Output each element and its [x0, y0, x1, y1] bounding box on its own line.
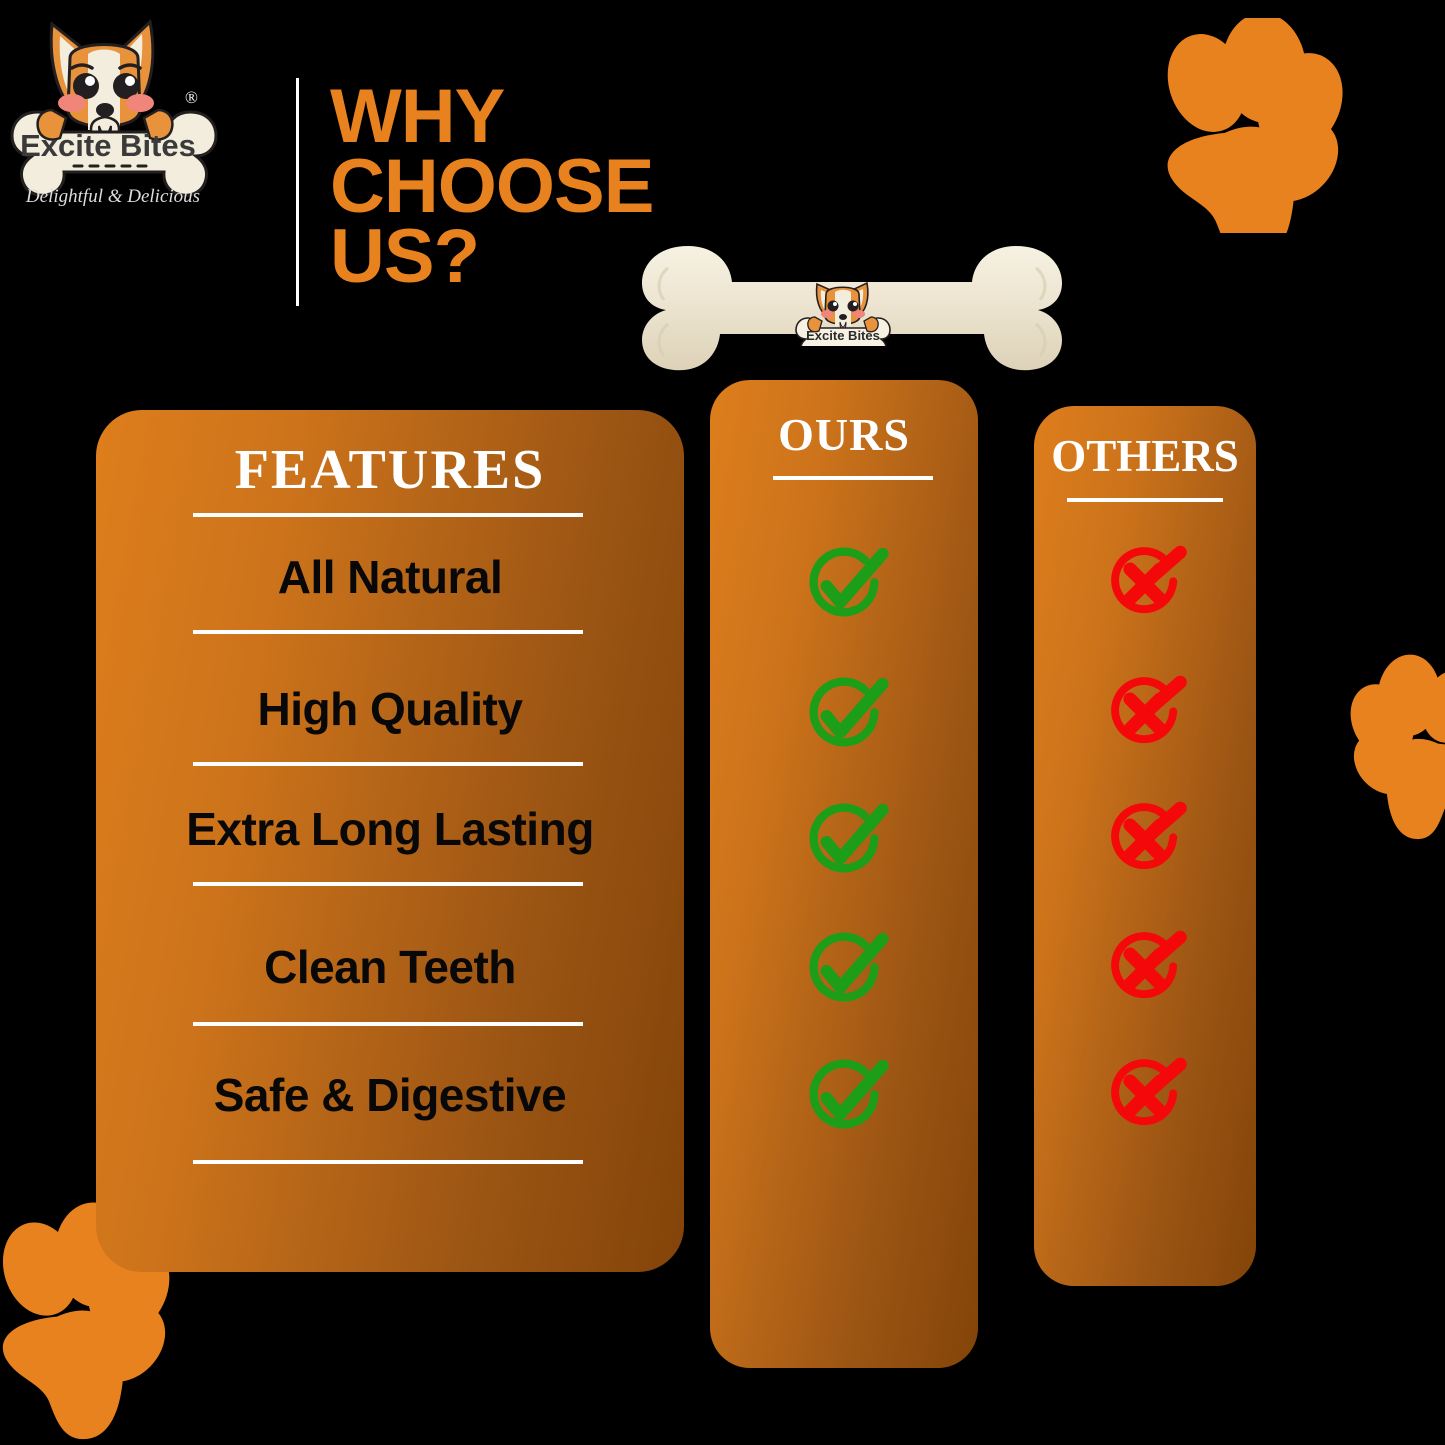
green-check-circle-icon [798, 1052, 890, 1144]
feature-divider-3 [193, 882, 583, 886]
infographic-canvas: Excite Bites Delightful & Delicious ® WH… [0, 0, 1445, 1445]
green-check-circle-icon [798, 925, 890, 1017]
others-cell-2 [1034, 670, 1256, 758]
others-cell-4 [1034, 925, 1256, 1013]
others-cell-5 [1034, 1052, 1256, 1140]
red-cross-circle-icon [1101, 540, 1189, 628]
brand-logo: Excite Bites Delightful & Delicious ® [8, 6, 220, 216]
logo-wordmark: Excite Bites [20, 128, 196, 163]
ours-header-rule [773, 476, 933, 480]
page-title-line-1: WHY [330, 82, 750, 152]
registered-mark-icon: ® [185, 88, 198, 107]
paw-print-icon [1262, 618, 1445, 858]
corgi-mini-icon [817, 283, 868, 331]
logo-tagline: Delightful & Delicious [25, 186, 200, 207]
ours-cell-3 [710, 796, 978, 888]
feature-divider-4 [193, 1022, 583, 1026]
feature-label-1: All Natural [96, 550, 684, 604]
others-header-rule [1067, 498, 1223, 502]
corgi-head-icon [51, 22, 154, 142]
others-column-card: OTHERS [1034, 406, 1256, 1286]
column-header-others: OTHERS [1034, 430, 1256, 482]
red-cross-circle-icon [1101, 1052, 1189, 1140]
ours-column-card: OURS [710, 380, 978, 1368]
feature-divider-2 [193, 762, 583, 766]
header-divider [296, 78, 299, 306]
feature-label-3: Extra Long Lasting [96, 802, 684, 856]
others-cell-3 [1034, 796, 1256, 884]
feature-label-2: High Quality [96, 682, 684, 736]
feature-label-4: Clean Teeth [96, 940, 684, 994]
column-header-features: FEATURES [96, 438, 684, 502]
red-cross-circle-icon [1101, 670, 1189, 758]
green-check-circle-icon [798, 796, 890, 888]
feature-divider-1 [193, 630, 583, 634]
bone-label-wordmark: Excite Bites [806, 328, 880, 343]
red-cross-circle-icon [1101, 796, 1189, 884]
red-cross-circle-icon [1101, 925, 1189, 1013]
feature-divider-5 [193, 1160, 583, 1164]
features-header-rule [193, 513, 583, 517]
ours-cell-1 [710, 540, 978, 632]
green-check-circle-icon [798, 670, 890, 762]
green-check-circle-icon [798, 540, 890, 632]
ours-cell-5 [710, 1052, 978, 1144]
features-column-card: FEATURES All Natural High Quality Extra … [96, 410, 684, 1272]
others-cell-1 [1034, 540, 1256, 628]
feature-label-5: Safe & Digestive [96, 1068, 684, 1122]
ours-cell-4 [710, 925, 978, 1017]
column-header-ours: OURS [710, 408, 978, 461]
bone-brand-label: Excite Bites [795, 268, 891, 346]
ours-cell-2 [710, 670, 978, 762]
page-title-line-2: CHOOSE [330, 152, 750, 222]
paw-print-icon [1152, 18, 1445, 233]
